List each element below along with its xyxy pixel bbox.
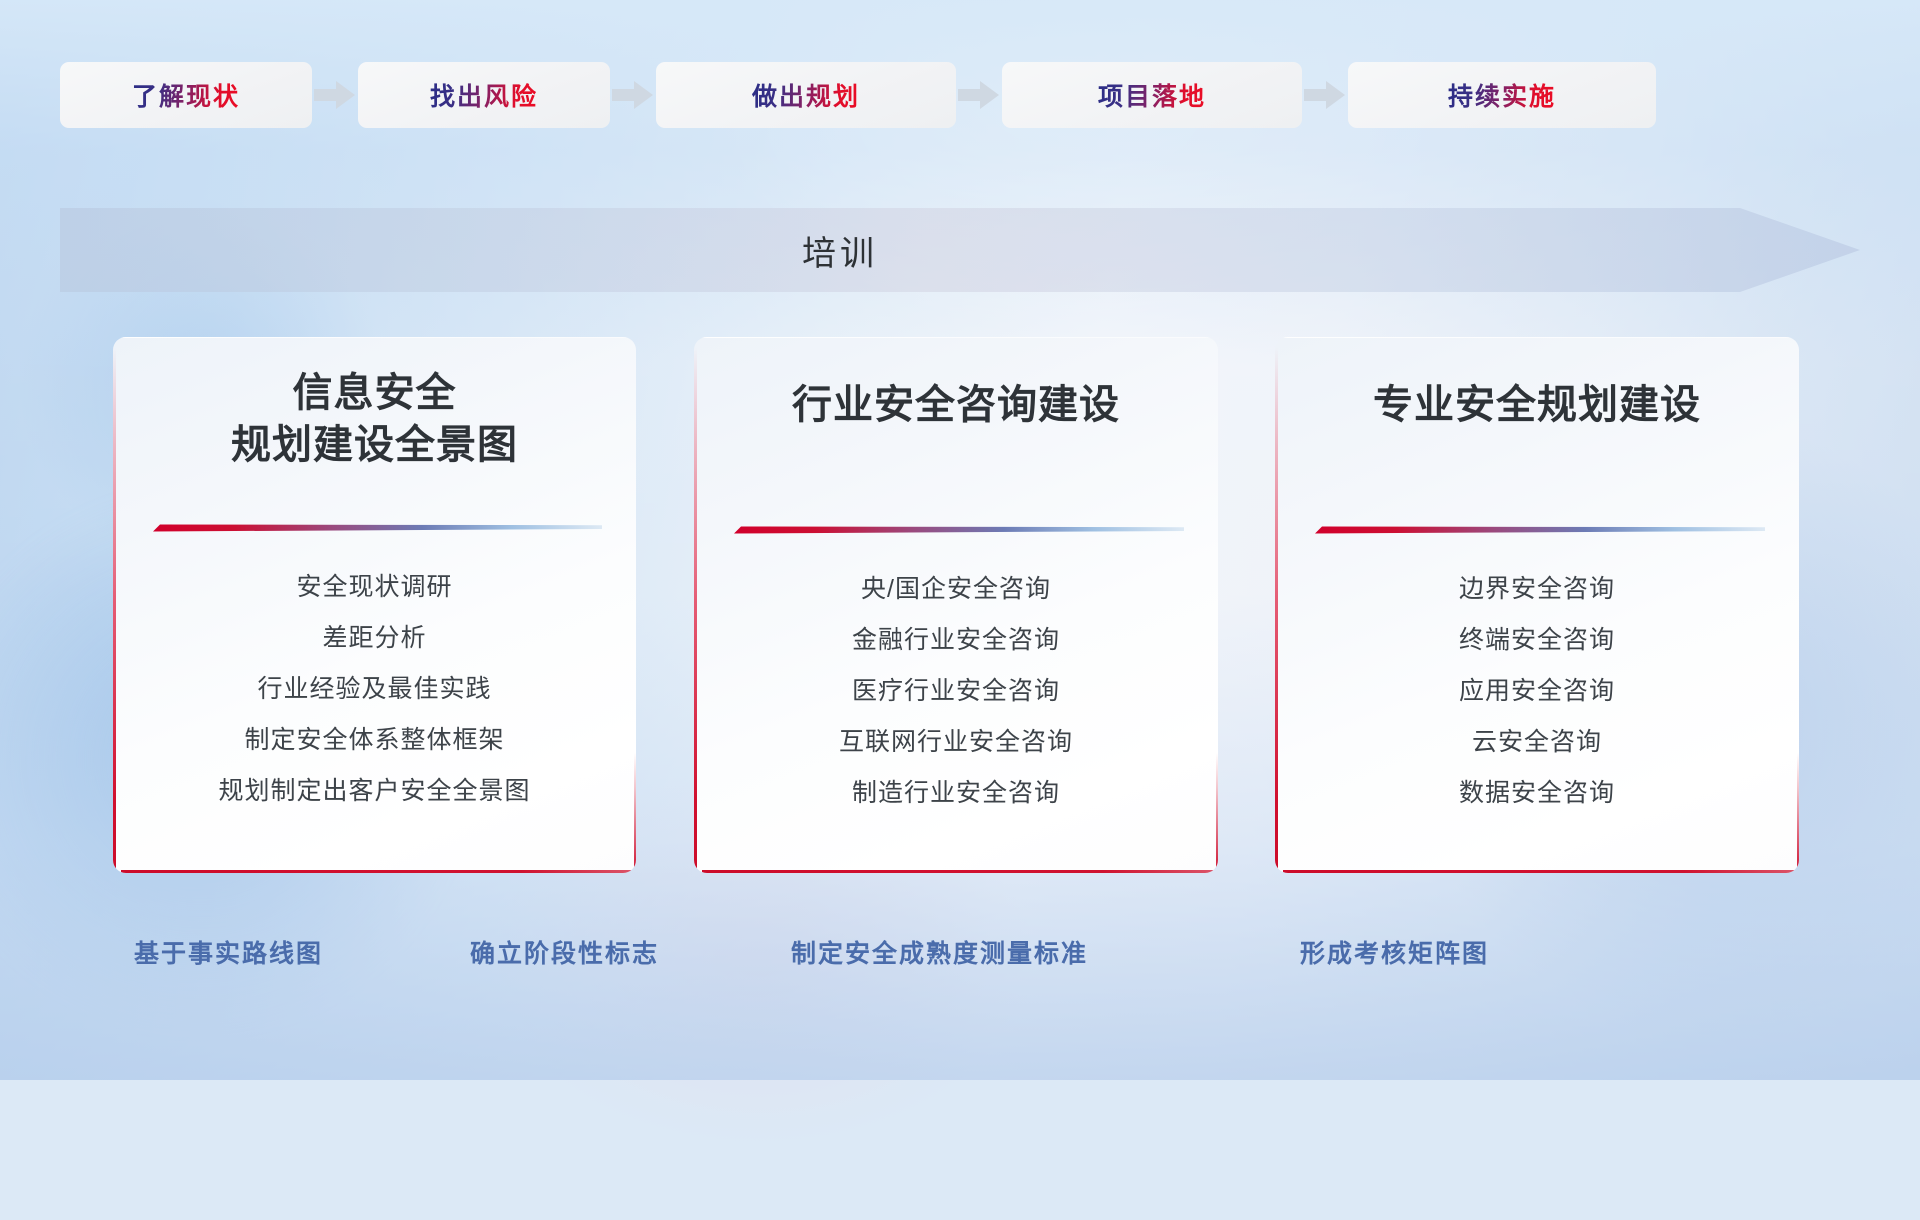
card-professional-security-planning[interactable]: 专业安全规划建设 边界安全咨询 终端安全咨询 (1275, 337, 1799, 873)
footer-label-2: 确立阶段性标志 (470, 934, 659, 970)
card-list-item: 数据安全咨询 (1275, 781, 1799, 806)
card-list-item: 医疗行业安全咨询 (694, 679, 1218, 704)
card-bottom-accent (1283, 870, 1797, 873)
step-separator-arrow-4 (1302, 78, 1348, 112)
card-title-2: 行业安全咨询建设 (694, 379, 1218, 431)
step-box-3[interactable]: 做出规划 (656, 62, 956, 128)
step-separator-arrow-3 (956, 78, 1002, 112)
training-banner: 培训 (60, 208, 1860, 292)
footer-label-1: 基于事实路线图 (134, 934, 323, 970)
card-title-1: 信息安全 规划建设全景图 (113, 367, 636, 471)
card-list-2: 央/国企安全咨询 金融行业安全咨询 医疗行业安全咨询 互联网行业安全咨询 制造行… (694, 577, 1218, 806)
step-label-2: 找出风险 (430, 77, 538, 113)
step-label-3: 做出规划 (752, 77, 860, 113)
card-list-item: 互联网行业安全咨询 (694, 730, 1218, 755)
card-list-item: 制造行业安全咨询 (694, 781, 1218, 806)
card-list-item: 规划制定出客户安全全景图 (113, 779, 636, 804)
step-box-2[interactable]: 找出风险 (358, 62, 610, 128)
card-top-highlight (1275, 337, 1799, 338)
step-label-1: 了解现状 (132, 77, 240, 113)
step-box-4[interactable]: 项目落地 (1002, 62, 1302, 128)
card-list-item: 边界安全咨询 (1275, 577, 1799, 602)
card-list-item: 金融行业安全咨询 (694, 628, 1218, 653)
footer-label-4: 形成考核矩阵图 (1300, 934, 1489, 970)
training-banner-label: 培训 (60, 208, 1620, 292)
card-bottom-accent (121, 870, 634, 873)
card-divider-2 (734, 524, 1184, 537)
card-list-item: 差距分析 (113, 626, 636, 651)
card-list-item: 央/国企安全咨询 (694, 577, 1218, 602)
step-label-5: 持续实施 (1448, 77, 1556, 113)
step-separator-arrow-1 (312, 78, 358, 112)
step-label-4: 项目落地 (1098, 77, 1206, 113)
card-information-security[interactable]: 信息安全 规划建设全景图 安全现状调研 (113, 337, 636, 873)
card-title-2-line-1: 行业安全咨询建设 (712, 379, 1200, 431)
card-list-item: 制定安全体系整体框架 (113, 728, 636, 753)
footer-labels: 基于事实路线图 确立阶段性标志 制定安全成熟度测量标准 形成考核矩阵图 (0, 934, 1920, 978)
card-divider-3 (1315, 524, 1765, 537)
card-list-item: 行业经验及最佳实践 (113, 677, 636, 702)
card-row: 信息安全 规划建设全景图 安全现状调研 (0, 337, 1920, 873)
card-divider-1 (153, 522, 602, 535)
card-list-3: 边界安全咨询 终端安全咨询 应用安全咨询 云安全咨询 数据安全咨询 (1275, 577, 1799, 806)
card-list-item: 应用安全咨询 (1275, 679, 1799, 704)
card-title-3-line-1: 专业安全规划建设 (1293, 379, 1781, 431)
step-box-5[interactable]: 持续实施 (1348, 62, 1656, 128)
card-title-1-line-2: 规划建设全景图 (131, 419, 618, 471)
card-list-item: 云安全咨询 (1275, 730, 1799, 755)
card-title-3: 专业安全规划建设 (1275, 379, 1799, 431)
card-top-highlight (694, 337, 1218, 338)
card-bottom-accent (702, 870, 1216, 873)
footer-label-3: 制定安全成熟度测量标准 (791, 934, 1088, 970)
process-steps: 了解现状 找出风险 做出规划 项目落地 持续实施 (60, 62, 1860, 128)
card-industry-security-consulting[interactable]: 行业安全咨询建设 央/国企安全咨询 金融行业安全咨 (694, 337, 1218, 873)
step-box-1[interactable]: 了解现状 (60, 62, 312, 128)
step-separator-arrow-2 (610, 78, 656, 112)
card-list-item: 安全现状调研 (113, 575, 636, 600)
card-top-highlight (113, 337, 636, 338)
card-title-1-line-1: 信息安全 (131, 367, 618, 419)
card-list-1: 安全现状调研 差距分析 行业经验及最佳实践 制定安全体系整体框架 规划制定出客户… (113, 575, 636, 804)
card-list-item: 终端安全咨询 (1275, 628, 1799, 653)
